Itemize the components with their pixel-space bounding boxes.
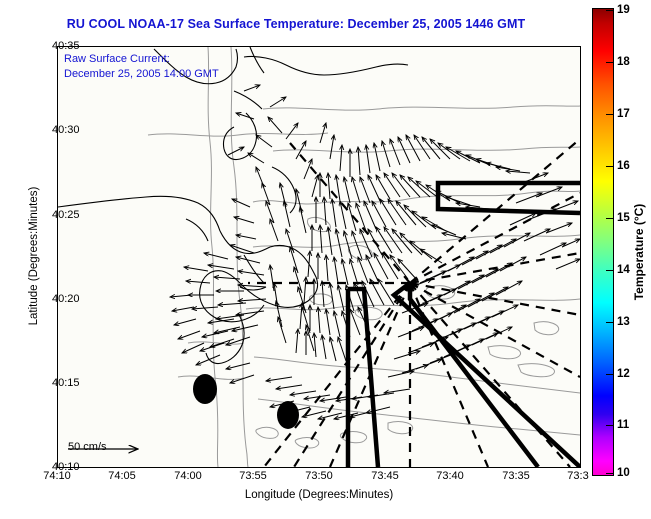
x-tick-8: 73:3 <box>567 470 588 482</box>
x-tick-3: 73:55 <box>239 470 267 482</box>
sst-map-figure: RU COOL NOAA-17 Sea Surface Temperature:… <box>0 0 651 519</box>
cbar-tick-11: 11 <box>617 419 629 431</box>
cbar-tick-12: 12 <box>617 368 630 380</box>
y-tick-1: 40:30 <box>52 124 80 136</box>
coastline <box>58 47 408 364</box>
vector-scale-arrow <box>64 441 154 457</box>
x-axis-label: Longitude (Degrees:Minutes) <box>57 489 581 501</box>
raw-current-line2: December 25, 2005 14:00 GMT <box>64 67 219 82</box>
cbar-tick-19: 19 <box>617 4 630 16</box>
cbar-tick-10: 10 <box>617 467 630 479</box>
x-tick-7: 73:35 <box>502 470 530 482</box>
cbar-tickmark-14 <box>606 270 614 271</box>
cbar-tick-13: 13 <box>617 316 630 328</box>
radar-station-markers <box>193 374 299 429</box>
temperature-colorbar <box>592 8 614 476</box>
y-tick-0: 40:35 <box>52 40 80 52</box>
map-plot-area: Raw Surface Current: December 25, 2005 1… <box>57 46 581 468</box>
cbar-tick-15: 15 <box>617 212 630 224</box>
y-axis-label: Latitude (Degrees:Minutes) <box>28 126 40 386</box>
vector-scale-bar: 50 cm/s <box>64 441 174 453</box>
raw-current-annotation: Raw Surface Current: December 25, 2005 1… <box>64 52 219 82</box>
map-graphics <box>58 47 580 467</box>
cbar-tick-16: 16 <box>617 160 630 172</box>
cbar-tick-14: 14 <box>617 264 630 276</box>
cbar-tickmark-16 <box>606 166 614 167</box>
x-tick-6: 73:40 <box>436 470 464 482</box>
y-tick-3: 40:20 <box>52 293 80 305</box>
x-tick-1: 74:05 <box>108 470 136 482</box>
y-tick-4: 40:15 <box>52 377 80 389</box>
cbar-tickmark-17 <box>606 114 614 115</box>
x-tick-5: 73:45 <box>371 470 399 482</box>
cbar-tickmark-19 <box>606 10 614 11</box>
figure-title: RU COOL NOAA-17 Sea Surface Temperature:… <box>0 17 592 31</box>
cbar-tickmark-15 <box>606 218 614 219</box>
colorbar-label: Temperature (°C) <box>632 152 646 352</box>
cbar-tickmark-11 <box>606 425 614 426</box>
cbar-tickmark-13 <box>606 322 614 323</box>
cbar-tickmark-12 <box>606 374 614 375</box>
x-tick-2: 74:00 <box>174 470 202 482</box>
cbar-tickmark-18 <box>606 62 614 63</box>
y-tick-2: 40:25 <box>52 209 80 221</box>
x-tick-4: 73:50 <box>305 470 333 482</box>
cbar-tickmark-10 <box>606 473 614 474</box>
raw-current-line1: Raw Surface Current: <box>64 52 219 67</box>
y-tick-5: 40:10 <box>52 461 80 473</box>
cbar-tick-18: 18 <box>617 56 630 68</box>
cbar-tick-17: 17 <box>617 108 630 120</box>
